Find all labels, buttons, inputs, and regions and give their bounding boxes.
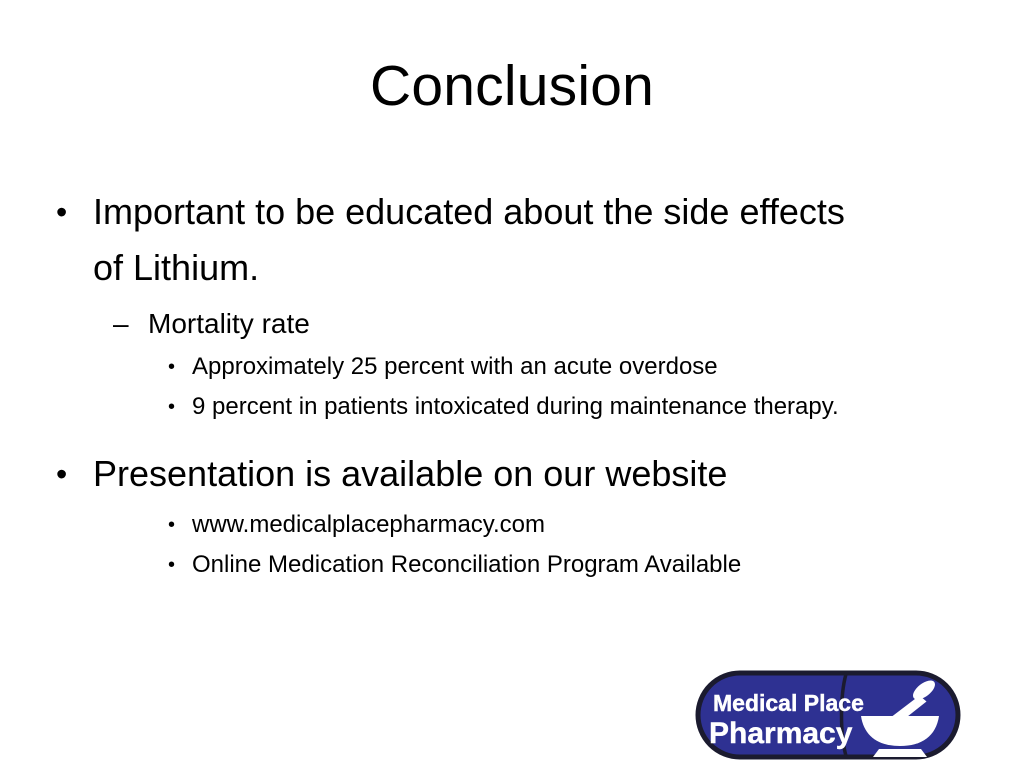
bullet-level1: • Presentation is available on our websi… [56,446,968,502]
bullet-text: Online Medication Reconciliation Program… [192,546,932,584]
bullet-marker-icon: • [168,546,192,584]
bullet-marker-icon: • [56,184,93,240]
bullet-level1: • Important to be educated about the sid… [56,184,968,296]
bullet-level3: • www.medicalplacepharmacy.com [56,506,1024,544]
bullet-text: Mortality rate [148,302,1024,346]
website-url-text: www.medicalplacepharmacy.com [192,506,932,544]
bullet-text: Approximately 25 percent with an acute o… [192,348,932,386]
bullet-text: 9 percent in patients intoxicated during… [192,388,932,426]
bullet-marker-icon: • [168,348,192,386]
medical-place-pharmacy-logo: Medical Place Pharmacy [695,670,961,760]
bullet-marker-icon: • [168,506,192,544]
logo-text-line1: Medical Place [713,690,864,716]
bullet-level3: • 9 percent in patients intoxicated duri… [56,388,1024,426]
bullet-level2: – Mortality rate [56,302,1024,346]
dash-marker-icon: – [113,302,148,346]
slide-title: Conclusion [0,52,1024,120]
bullet-level3: • Approximately 25 percent with an acute… [56,348,1024,386]
slide-body: • Important to be educated about the sid… [56,184,968,586]
bullet-text: Important to be educated about the side … [93,184,858,296]
logo-text-line2: Pharmacy [709,717,853,750]
presentation-slide: Conclusion • Important to be educated ab… [0,0,1024,768]
bullet-marker-icon: • [168,388,192,426]
bullet-text: Presentation is available on our website [93,446,858,502]
bullet-level3: • Online Medication Reconciliation Progr… [56,546,1024,584]
bullet-marker-icon: • [56,446,93,502]
